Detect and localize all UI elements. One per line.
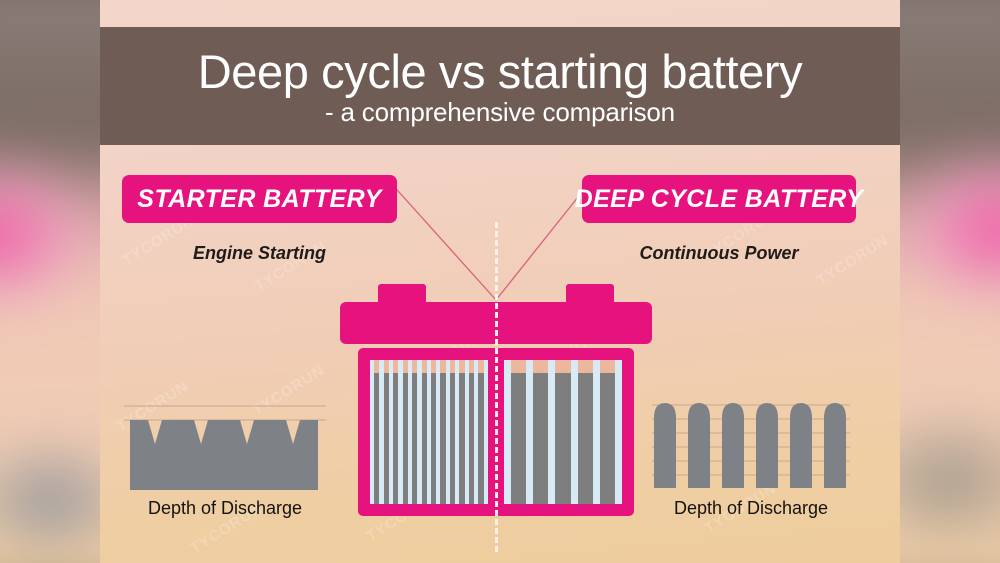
battery-plate xyxy=(469,360,474,504)
battery-plate-gap xyxy=(593,360,600,504)
battery-terminal-left xyxy=(378,284,426,304)
battery-plate xyxy=(450,360,455,504)
battery-plate xyxy=(578,360,593,504)
battery-plate-gap xyxy=(571,360,578,504)
battery-plate xyxy=(555,360,570,504)
battery-plate xyxy=(600,360,615,504)
badge-deep-cycle-battery-label: DEEP CYCLE BATTERY xyxy=(575,185,864,214)
chart-starter-depth-of-discharge: Depth of Discharge xyxy=(122,392,328,524)
battery-plate xyxy=(393,360,398,504)
caption-engine-starting: Engine Starting xyxy=(122,243,397,264)
badge-deep-cycle-battery[interactable]: DEEP CYCLE BATTERY xyxy=(582,175,856,223)
battery-cell-thin-plates xyxy=(370,360,488,504)
chart-starter-label: Depth of Discharge xyxy=(122,498,328,519)
badge-starter-battery[interactable]: STARTER BATTERY xyxy=(122,175,397,223)
page-subtitle: - a comprehensive comparison xyxy=(325,99,675,125)
battery-plate xyxy=(459,360,464,504)
center-divider xyxy=(495,222,498,552)
battery-plate xyxy=(511,360,526,504)
chart-deep-cycle-svg xyxy=(648,392,854,496)
battery-cell-thick-plates xyxy=(504,360,622,504)
battery-plate xyxy=(374,360,379,504)
battery-plate xyxy=(384,360,389,504)
badge-starter-battery-label: STARTER BATTERY xyxy=(137,185,381,214)
poster-panel: TYCORUNTYCORUNTYCORUNTYCORUNTYCORUNTYCOR… xyxy=(100,0,900,563)
battery-terminal-right xyxy=(566,284,614,304)
battery-plate-gap xyxy=(484,360,488,504)
battery-plate-gap xyxy=(504,360,511,504)
infographic-stage: TYCORUNTYCORUNTYCORUNTYCORUNTYCORUNTYCOR… xyxy=(0,0,1000,563)
battery-plate xyxy=(422,360,427,504)
caption-continuous-power: Continuous Power xyxy=(582,243,856,264)
battery-plate xyxy=(412,360,417,504)
battery-plate-gap xyxy=(548,360,555,504)
page-title: Deep cycle vs starting battery xyxy=(198,48,803,95)
battery-plate xyxy=(478,360,483,504)
battery-plate-gap xyxy=(615,360,622,504)
title-banner: Deep cycle vs starting battery - a compr… xyxy=(100,27,900,145)
chart-deep-cycle-depth-of-discharge: Depth of Discharge xyxy=(648,392,854,524)
chart-deep-cycle-label: Depth of Discharge xyxy=(648,498,854,519)
battery-plate xyxy=(533,360,548,504)
chart-starter-svg xyxy=(122,392,328,496)
battery-plate xyxy=(431,360,436,504)
battery-plate xyxy=(403,360,408,504)
battery-plate xyxy=(440,360,445,504)
battery-plate-gap xyxy=(526,360,533,504)
